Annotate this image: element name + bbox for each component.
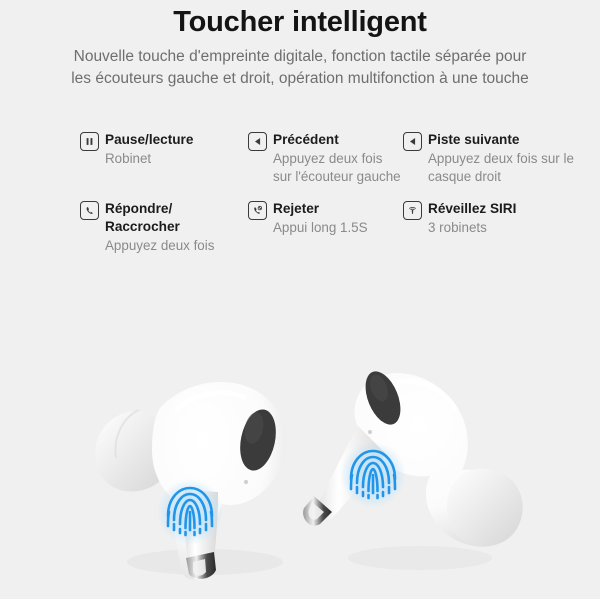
feature-title: Piste suivante bbox=[428, 131, 590, 149]
feature-list: Pause/lecture Robinet Précédent Appuyez … bbox=[80, 131, 590, 255]
previous-track-icon bbox=[248, 132, 267, 151]
feature-text: Réveillez SIRI 3 robinets bbox=[428, 200, 516, 237]
feature-item-pause-lecture: Pause/lecture Robinet bbox=[80, 131, 248, 186]
feature-item-repondre-raccrocher: Répondre/ Raccrocher Appuyez deux fois bbox=[80, 200, 248, 255]
page-title: Toucher intelligent bbox=[0, 6, 600, 39]
feature-title: Répondre/ Raccrocher bbox=[105, 200, 248, 236]
feature-description: Appuyez deux fois bbox=[105, 237, 248, 255]
feature-description: Appuyez deux fois sur l'écouteur gauche bbox=[273, 150, 403, 186]
feature-text: Précédent Appuyez deux fois sur l'écoute… bbox=[273, 131, 403, 186]
feature-text: Répondre/ Raccrocher Appuyez deux fois bbox=[105, 200, 248, 255]
feature-title: Précédent bbox=[273, 131, 403, 149]
right-earbud bbox=[303, 366, 523, 570]
next-track-icon bbox=[403, 132, 422, 151]
fingerprint-touch-indicator-left bbox=[157, 479, 223, 545]
microphone-siri-icon bbox=[403, 201, 422, 220]
feature-description: 3 robinets bbox=[428, 219, 516, 237]
feature-title: Rejeter bbox=[273, 200, 368, 218]
pause-icon bbox=[80, 132, 99, 151]
feature-item-precedent: Précédent Appuyez deux fois sur l'écoute… bbox=[248, 131, 403, 186]
feature-description: Appuyez deux fois sur le casque droit bbox=[428, 150, 590, 186]
feature-title: Réveillez SIRI bbox=[428, 200, 516, 218]
phone-answer-icon bbox=[80, 201, 99, 220]
feature-description: Robinet bbox=[105, 150, 193, 168]
feature-text: Pause/lecture Robinet bbox=[105, 131, 193, 168]
phone-reject-icon bbox=[248, 201, 267, 220]
feature-text: Rejeter Appui long 1.5S bbox=[273, 200, 368, 237]
fingerprint-touch-indicator-right bbox=[340, 442, 406, 508]
feature-title: Pause/lecture bbox=[105, 131, 193, 149]
feature-item-piste-suivante: Piste suivante Appuyez deux fois sur le … bbox=[403, 131, 590, 186]
wireless-earbuds-photo bbox=[0, 300, 600, 599]
feature-text: Piste suivante Appuyez deux fois sur le … bbox=[428, 131, 590, 186]
feature-description: Appui long 1.5S bbox=[273, 219, 368, 237]
page-subtitle: Nouvelle touche d'empreinte digitale, fo… bbox=[70, 46, 530, 90]
feature-item-reveillez-siri: Réveillez SIRI 3 robinets bbox=[403, 200, 590, 255]
feature-item-rejeter: Rejeter Appui long 1.5S bbox=[248, 200, 403, 255]
header: Toucher intelligent Nouvelle touche d'em… bbox=[0, 0, 600, 90]
